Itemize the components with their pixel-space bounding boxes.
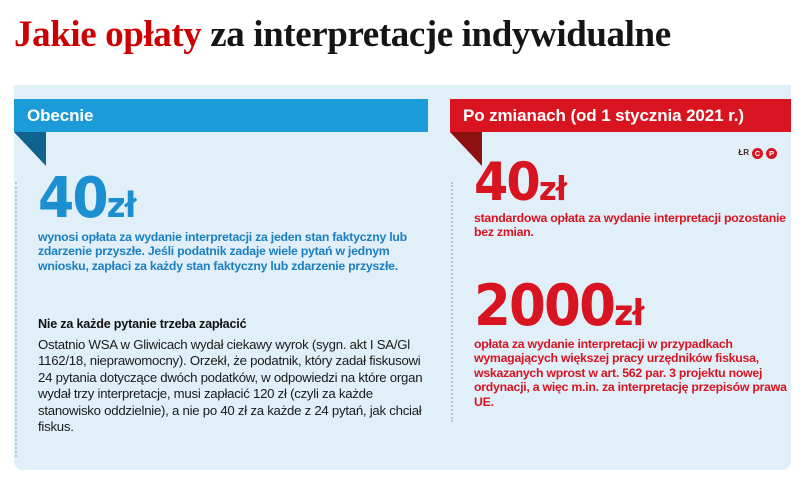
right-column-header-label: Po zmianach (od 1 stycznia 2021 r.) <box>463 106 744 126</box>
column-po-zmianach: Po zmianach (od 1 stycznia 2021 r.) ŁR C… <box>450 85 791 470</box>
published-icon: P <box>766 148 777 159</box>
content-panel: Obecnie 40zł wynosi opłata za wydanie in… <box>14 85 791 470</box>
copyright-icon: C <box>752 148 763 159</box>
right-figure-2-amount: 2000zł <box>474 280 781 334</box>
left-column-header-label: Obecnie <box>27 106 93 126</box>
page-title-highlight: Jakie opłaty <box>14 14 201 55</box>
right-dotted-rule <box>451 182 453 422</box>
left-fold-corner <box>14 132 46 166</box>
left-column-header: Obecnie <box>14 99 428 132</box>
left-figure-number: 40 <box>38 166 107 231</box>
right-figure-2-number: 2000 <box>474 273 614 339</box>
left-figure-block: 40zł wynosi opłata za wydanie interpreta… <box>38 173 428 273</box>
right-column-header: Po zmianach (od 1 stycznia 2021 r.) <box>450 99 791 132</box>
right-figure-block-2: 2000zł opłata za wydanie interpretacji w… <box>474 280 804 410</box>
author-initials: ŁR <box>738 149 749 157</box>
page-title: Jakie opłaty za interpretacje indywidual… <box>14 14 794 56</box>
column-obecnie: Obecnie 40zł wynosi opłata za wydanie in… <box>14 85 438 470</box>
left-article-body: Ostatnio WSA w Gliwicach wydał ciekawy w… <box>38 337 428 435</box>
right-figure-1-number: 40 <box>474 152 539 213</box>
right-figure-2-caption: opłata za wydanie interpretacji w przypa… <box>474 337 804 410</box>
right-figure-block-1: 40zł standardowa opłata za wydanie inter… <box>474 158 804 240</box>
page-title-rest: za interpretacje indywidualne <box>210 14 670 55</box>
right-figure-1-currency: zł <box>539 169 566 208</box>
left-article: Nie za każde pytanie trzeba zapłacić Ost… <box>38 317 428 435</box>
left-article-subhead: Nie za każde pytanie trzeba zapłacić <box>38 317 428 332</box>
right-figure-1-amount: 40zł <box>474 158 781 208</box>
left-figure-amount: 40zł <box>38 173 401 226</box>
left-dotted-rule <box>15 182 17 457</box>
infographic-page: Jakie opłaty za interpretacje indywidual… <box>0 0 805 485</box>
right-figure-1-caption: standardowa opłata za wydanie interpreta… <box>474 211 800 240</box>
left-figure-currency: zł <box>107 186 136 226</box>
right-figure-2-currency: zł <box>614 293 643 334</box>
left-figure-caption: wynosi opłata za wydanie interpretacji z… <box>38 230 420 274</box>
